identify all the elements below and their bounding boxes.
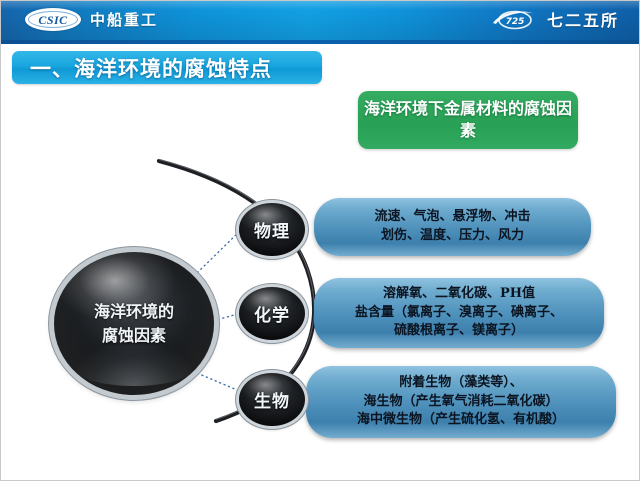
header-bar: CSIC 中船重工 725 七二五所 <box>1 1 640 40</box>
csic-oval-logo-icon: CSIC <box>25 8 81 31</box>
capsule-chemical-factors: 溶解氧、二氧化碳、PH值 盐含量（氯离子、溴离子、碘离子、 硫酸根离子、镁离子） <box>314 278 604 348</box>
capsule-chemical-text: 溶解氧、二氧化碳、PH值 盐含量（氯离子、溴离子、碘离子、 硫酸根离子、镁离子） <box>343 285 575 342</box>
section-title-text: 一、海洋环境的腐蚀特点 <box>12 53 272 83</box>
green-topic-box: 海洋环境下金属材料的腐蚀因素 <box>358 91 578 149</box>
header-underline <box>1 40 640 44</box>
node-chemical-label: 化学 <box>254 301 290 326</box>
csic-logo-text: CSIC <box>38 14 67 26</box>
center-sphere-label: 海洋环境的 腐蚀因素 <box>94 300 174 348</box>
slide-canvas: CSIC 中船重工 725 七二五所 一、海洋环境的腐蚀特点 <box>0 0 640 481</box>
capsule-physical-text: 流速、气泡、悬浮物、冲击 划伤、温度、压力、风力 <box>362 208 542 246</box>
capsule-physical-factors: 流速、气泡、悬浮物、冲击 划伤、温度、压力、风力 <box>314 198 591 256</box>
center-sphere-node: 海洋环境的 腐蚀因素 <box>54 252 214 395</box>
csic-brand-group: CSIC 中船重工 <box>25 8 158 31</box>
institute-name-cn: 七二五所 <box>547 7 619 31</box>
node-physical: 物理 <box>239 203 305 256</box>
capsule-biological-text: 附着生物（藻类等）、 海生物（产生氧气消耗二氧化碳） 海中微生物（产生硫化氢、有… <box>345 374 577 431</box>
green-topic-text: 海洋环境下金属材料的腐蚀因素 <box>358 98 578 141</box>
capsule-biological-factors: 附着生物（藻类等）、 海生物（产生氧气消耗二氧化碳） 海中微生物（产生硫化氢、有… <box>306 366 616 438</box>
node-physical-label: 物理 <box>254 217 290 242</box>
brand-name-cn: 中船重工 <box>90 9 158 30</box>
node-chemical: 化学 <box>239 287 305 340</box>
node-biological: 生物 <box>239 373 305 426</box>
725-swoosh-logo-icon: 725 <box>491 7 537 31</box>
svg-text:725: 725 <box>506 17 525 27</box>
institute-brand-group: 725 七二五所 <box>491 7 619 31</box>
section-title-banner: 一、海洋环境的腐蚀特点 <box>12 51 322 84</box>
node-biological-label: 生物 <box>254 387 290 412</box>
